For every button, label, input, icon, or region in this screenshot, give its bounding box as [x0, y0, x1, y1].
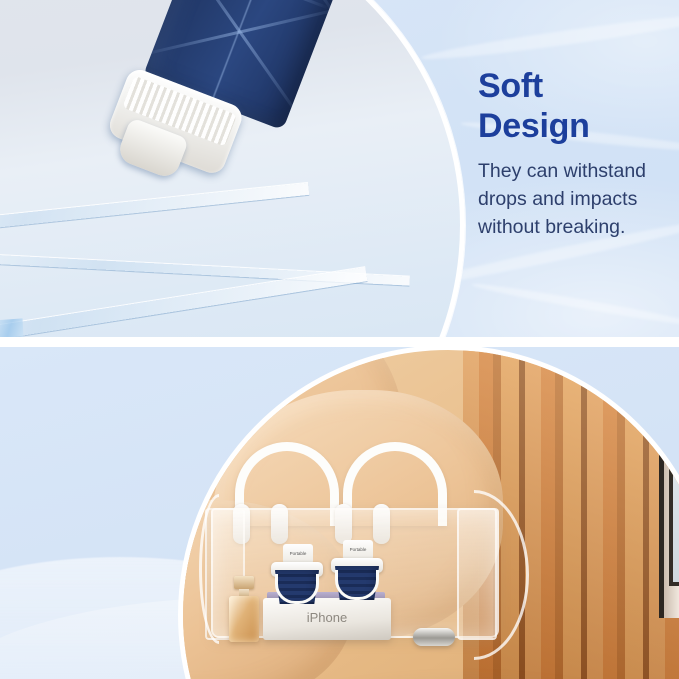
bottle-tag: Portable	[343, 540, 373, 560]
collapsible-bottle-small: Portable	[331, 554, 383, 600]
heading-soft-design: Soft Design	[478, 66, 670, 147]
ice-plane	[0, 267, 367, 342]
panel-soft-design: Soft Design They can withstand drops and…	[0, 0, 679, 342]
iphone-box: iPhone	[263, 598, 391, 640]
bottle-tag: Portable	[283, 544, 313, 564]
product-photo-ice	[0, 0, 465, 342]
product-photo-tote: iPhone Portable Portable	[178, 347, 679, 679]
collapsible-bottle-small: Portable	[271, 558, 323, 604]
perfume-bottle	[229, 576, 259, 642]
perfume-cap	[234, 576, 254, 589]
metal-tube	[413, 628, 455, 646]
facet-crease	[189, 0, 330, 10]
heading-line-1: Soft	[478, 66, 670, 106]
perfume-body	[229, 596, 259, 642]
window-pane	[669, 376, 679, 586]
heading-line-2: Design	[478, 106, 670, 146]
text-block-soft-design: Soft Design They can withstand drops and…	[478, 66, 670, 242]
perfume-neck	[239, 589, 249, 596]
ice-plane	[0, 183, 309, 249]
iphone-box-label: iPhone	[263, 610, 391, 625]
infographic-page: Soft Design They can withstand drops and…	[0, 0, 679, 679]
ice-scene	[0, 0, 460, 342]
panel-divider	[0, 337, 679, 347]
collapsible-bottle	[124, 0, 368, 179]
clear-tote-bag: iPhone Portable Portable	[205, 446, 505, 646]
water-ripple	[471, 280, 679, 329]
room-scene: iPhone Portable Portable	[183, 350, 679, 679]
body-soft-design: They can withstand drops and impacts wit…	[478, 157, 670, 242]
panel-portable-design: iPhone Portable Portable	[0, 347, 679, 679]
